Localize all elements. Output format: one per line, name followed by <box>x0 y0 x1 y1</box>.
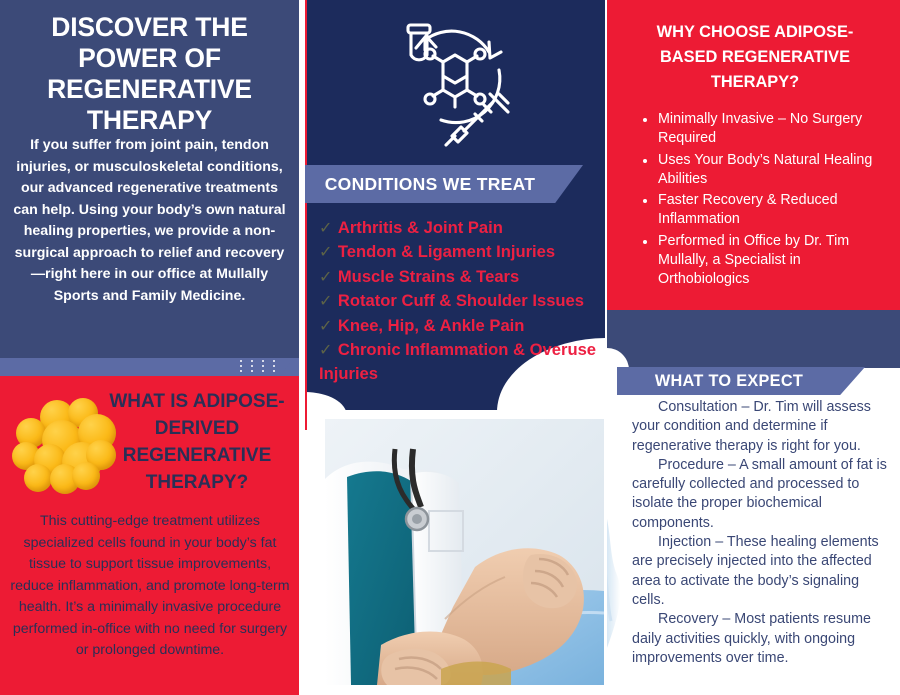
dot <box>273 365 275 367</box>
condition-label: Muscle Strains & Tears <box>338 267 519 286</box>
what-to-expect-steps: Consultation – Dr. Tim will assess your … <box>632 398 888 668</box>
dot <box>262 360 264 362</box>
dot <box>251 365 253 367</box>
check-icon: ✓ <box>319 269 337 286</box>
condition-item: ✓ Knee, Hip, & Ankle Pain <box>319 314 605 338</box>
condition-item: ✓ Chronic Inflammation & Overuse Injurie… <box>319 338 605 386</box>
test-tube-molecule-syringe-icon <box>389 14 521 150</box>
dot <box>240 365 242 367</box>
expect-step: Procedure – A small amount of fat is car… <box>632 456 888 533</box>
benefit-item: Uses Your Body’s Natural Healing Abiliti… <box>643 151 888 190</box>
adipose-section-paragraph: This cutting-edge treatment utilizes spe… <box>10 511 290 662</box>
main-headline: DISCOVER THE POWER OF REGENERATIVE THERA… <box>14 12 285 136</box>
dot <box>273 360 275 362</box>
condition-label: Chronic Inflammation & Overuse Injuries <box>319 340 596 383</box>
adipose-cell-cluster-icon <box>10 396 118 496</box>
expect-step: Consultation – Dr. Tim will assess your … <box>632 398 888 456</box>
why-choose-heading: WHY CHOOSE ADIPOSE-BASED REGENERATIVE TH… <box>629 20 881 95</box>
adipose-section-heading: WHAT IS ADIPOSE-DERIVED REGENERATIVE THE… <box>104 388 290 496</box>
middle-red-accent-line <box>305 0 307 430</box>
dot <box>251 360 253 362</box>
dot <box>262 370 264 372</box>
doctor-examining-patient-knee-photo <box>325 419 604 685</box>
condition-label: Tendon & Ligament Injuries <box>338 242 555 261</box>
dot <box>251 370 253 372</box>
condition-label: Knee, Hip, & Ankle Pain <box>338 316 525 335</box>
benefits-list: Minimally Invasive – No Surgery Required… <box>643 110 888 292</box>
conditions-list: ✓ Arthritis & Joint Pain✓ Tendon & Ligam… <box>319 216 605 386</box>
check-icon: ✓ <box>319 342 337 359</box>
what-to-expect-banner-label: WHAT TO EXPECT <box>617 367 841 395</box>
check-icon: ✓ <box>319 318 337 335</box>
conditions-banner-label: CONDITIONS WE TREAT <box>305 165 555 203</box>
intro-paragraph: If you suffer from joint pain, tendon in… <box>12 135 287 307</box>
expect-step: Recovery – Most patients resume daily ac… <box>632 610 888 668</box>
condition-item: ✓ Tendon & Ligament Injuries <box>319 240 605 264</box>
conditions-banner: CONDITIONS WE TREAT <box>305 165 583 203</box>
middle-column: CONDITIONS WE TREAT ✓ Arthritis & Joint … <box>305 0 605 695</box>
expect-step: Injection – These healing elements are p… <box>632 533 888 610</box>
blue-watermark-decoration <box>607 455 631 695</box>
condition-label: Rotator Cuff & Shoulder Issues <box>338 291 584 310</box>
dot <box>273 370 275 372</box>
brochure-page: DISCOVER THE POWER OF REGENERATIVE THERA… <box>0 0 900 695</box>
condition-item: ✓ Rotator Cuff & Shoulder Issues <box>319 289 605 313</box>
right-column: WHY CHOOSE ADIPOSE-BASED REGENERATIVE TH… <box>607 0 900 695</box>
dot <box>240 370 242 372</box>
benefit-item: Minimally Invasive – No Surgery Required <box>643 110 888 149</box>
check-icon: ✓ <box>319 220 337 237</box>
check-icon: ✓ <box>319 293 337 310</box>
dot <box>240 360 242 362</box>
right-navy-band <box>607 310 900 368</box>
dot <box>262 365 264 367</box>
what-to-expect-banner: WHAT TO EXPECT <box>617 367 865 395</box>
benefit-item: Performed in Office by Dr. Tim Mullally,… <box>643 232 888 290</box>
benefit-item: Faster Recovery & Reduced Inflammation <box>643 191 888 230</box>
condition-item: ✓ Muscle Strains & Tears <box>319 265 605 289</box>
navy-panel-left-curve <box>305 392 347 416</box>
left-column: DISCOVER THE POWER OF REGENERATIVE THERA… <box>0 0 299 695</box>
cell-sphere <box>24 464 52 492</box>
condition-item: ✓ Arthritis & Joint Pain <box>319 216 605 240</box>
cell-sphere <box>72 462 100 490</box>
condition-label: Arthritis & Joint Pain <box>338 218 503 237</box>
check-icon: ✓ <box>319 244 337 261</box>
dot-pattern-decoration <box>240 360 282 374</box>
